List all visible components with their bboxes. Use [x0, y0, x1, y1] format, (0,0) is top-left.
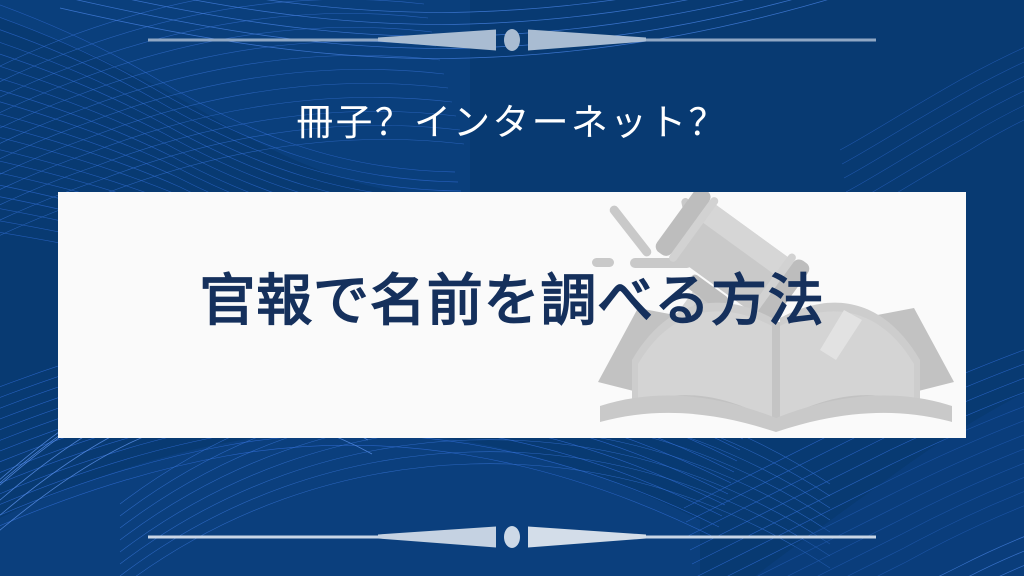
motion-lines: [592, 197, 697, 268]
slide-canvas: 冊子？インターネット？: [0, 0, 1024, 576]
bottom-divider-ornament: [148, 524, 876, 550]
top-divider-ornament: [148, 27, 876, 53]
page-title: 官報で名前を調べる方法: [58, 270, 966, 332]
divider-center-dot: [504, 29, 520, 51]
subtitle: 冊子？インターネット？: [0, 100, 1024, 146]
title-card: 官報で名前を調べる方法: [58, 192, 966, 438]
divider-center-dot: [504, 526, 520, 548]
